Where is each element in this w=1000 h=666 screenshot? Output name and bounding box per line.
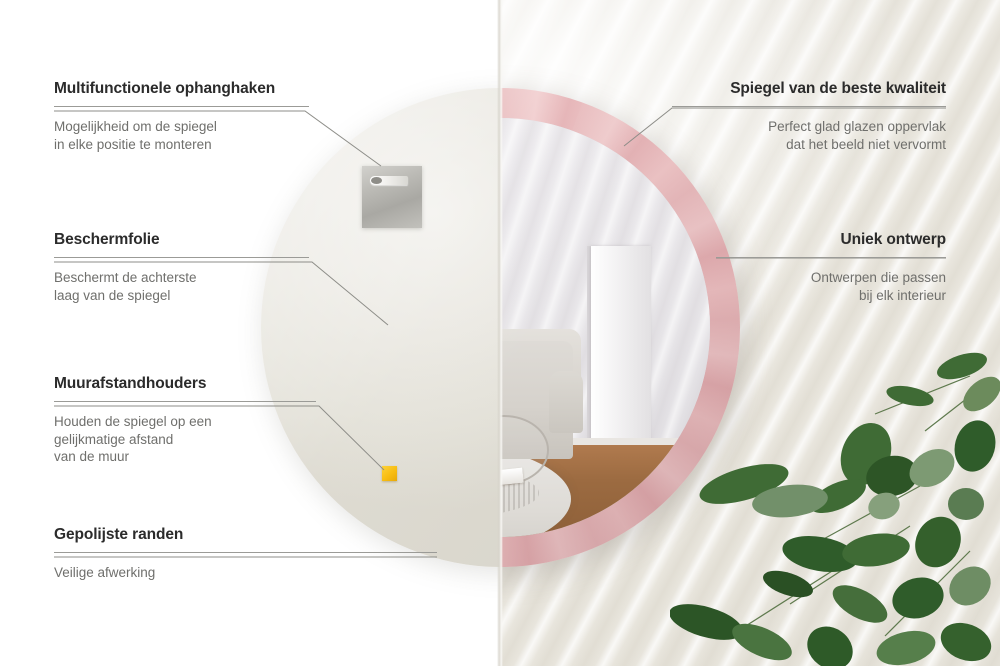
- callout-title: Uniek ontwerp: [716, 231, 946, 249]
- foliage-decoration: [670, 336, 1000, 666]
- callout-rule: [54, 552, 437, 553]
- callout-description: Perfect glad glazen oppervlak dat het be…: [672, 118, 946, 153]
- callout-rule: [54, 257, 309, 258]
- hook-slot-icon: [370, 176, 408, 185]
- reflected-sofa-arm-right: [549, 371, 583, 433]
- callout-rule: [54, 106, 309, 107]
- mirror-back-sheen: [261, 88, 500, 567]
- callout-uniek-ontwerp: Uniek ontwerp Ontwerpen die passen bij e…: [716, 231, 946, 304]
- callout-description: Mogelijkheid om de spiegel in elke posit…: [54, 118, 309, 153]
- mirror-back-disc: [261, 88, 500, 567]
- callout-rule: [672, 106, 946, 107]
- callout-beste-kwaliteit: Spiegel van de beste kwaliteit Perfect g…: [672, 80, 946, 153]
- callout-title: Spiegel van de beste kwaliteit: [672, 80, 946, 98]
- callout-beschermfolie: Beschermfolie Beschermt de achterste laa…: [54, 231, 309, 304]
- callout-muurafstandhouders: Muurafstandhouders Houden de spiegel op …: [54, 375, 316, 466]
- callout-title: Multifunctionele ophanghaken: [54, 80, 309, 98]
- callout-rule: [54, 401, 316, 402]
- callout-ophanghaken: Multifunctionele ophanghaken Mogelijkhei…: [54, 80, 309, 153]
- callout-description: Beschermt de achterste laag van de spieg…: [54, 269, 309, 304]
- reflected-door: [591, 246, 651, 456]
- callout-title: Beschermfolie: [54, 231, 309, 249]
- panel-divider: [497, 0, 503, 666]
- callout-description: Veilige afwerking: [54, 564, 437, 582]
- infographic-canvas: Multifunctionele ophanghaken Mogelijkhei…: [0, 0, 1000, 666]
- leaves: [670, 348, 1000, 666]
- callout-title: Muurafstandhouders: [54, 375, 316, 393]
- hanging-hook-plate: [362, 166, 422, 228]
- callout-title: Gepolijste randen: [54, 526, 437, 544]
- callout-description: Houden de spiegel op een gelijkmatige af…: [54, 413, 316, 466]
- wall-spacer-chip: [382, 466, 397, 481]
- callout-description: Ontwerpen die passen bij elk interieur: [716, 269, 946, 304]
- callout-rule: [716, 257, 946, 258]
- callout-gepolijste-randen: Gepolijste randen Veilige afwerking: [54, 526, 437, 582]
